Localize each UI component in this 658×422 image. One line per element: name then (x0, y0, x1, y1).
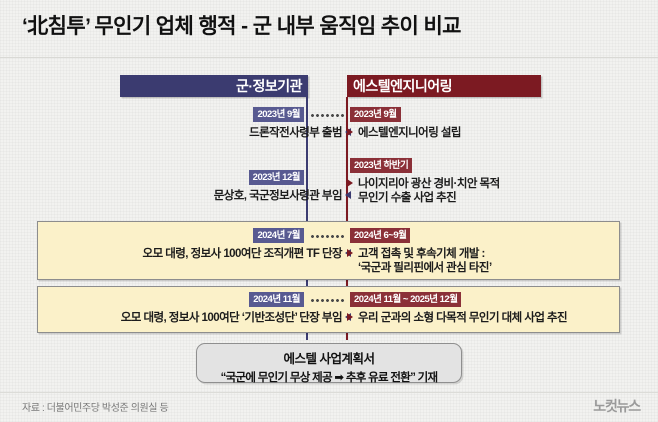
row-text-left: 문상호, 국군정보사령관 부임 (214, 189, 342, 203)
page-title: ‘北침투’ 무인기 업체 행적 - 군 내부 움직임 추이 비교 (22, 10, 461, 40)
nocutnews-logo: 노컷뉴스 (593, 396, 640, 416)
column-header-military: 군·정보기관 (120, 75, 308, 97)
row-date-right: 2024년 11월 ~ 2025년 12월 (350, 292, 461, 307)
row-text-left: 드론작전사령부 출범 (249, 126, 342, 140)
highlight-box-row-4 (37, 286, 620, 333)
source-credit: 자료 : 더불어민주당 박성준 의원실 등 (22, 399, 168, 414)
business-plan-note: 에스텔 사업계획서 “국군에 무인기 무상 제공 ➡ 추후 유료 전환” 기재 (196, 343, 462, 383)
row-date-left: 2024년 7월 (253, 228, 304, 243)
arrow-right-icon (347, 128, 353, 136)
arrow-right-icon (347, 249, 353, 257)
arrow-right-icon (347, 179, 353, 187)
row-connector-dots (310, 114, 344, 117)
row-text-left: 오모 대령, 정보사 100여단 ‘기반조성단’ 단장 부임 (121, 311, 342, 325)
row-date-left: 2024년 11월 (249, 292, 304, 307)
row-date-left: 2023년 12월 (249, 170, 304, 185)
row-date-right: 2023년 9월 (350, 107, 401, 122)
arrow-right-icon (347, 313, 353, 321)
arrow-left-icon (345, 191, 351, 199)
row-text-right: 우리 군과의 소형 다목적 무인기 대체 사업 추진 (358, 311, 567, 325)
row-date-right: 2024년 6~9월 (350, 228, 410, 243)
row-text-right: 나이지리아 광산 경비·치안 목적 무인기 수출 사업 추진 (358, 177, 500, 205)
row-text-right: 에스텔엔지니어링 설립 (358, 126, 461, 140)
footer-divider (0, 392, 658, 393)
title-divider (0, 57, 658, 58)
row-date-left: 2023년 9월 (253, 107, 304, 122)
column-header-estel: 에스텔엔지니어링 (347, 75, 541, 97)
row-date-right: 2023년 하반기 (350, 158, 412, 173)
row-text-left: 오모 대령, 정보사 100여단 조직개편 TF 단장 (143, 247, 342, 261)
row-text-right: 고객 접촉 및 후속기체 개발 : ‘국군과 필리핀에서 관심 타진’ (358, 247, 492, 275)
infographic-canvas: ‘北침투’ 무인기 업체 행적 - 군 내부 움직임 추이 비교 군·정보기관 … (0, 0, 658, 422)
row-connector-dots (310, 235, 344, 238)
row-connector-dots (310, 299, 344, 302)
note-title: 에스텔 사업계획서 (197, 348, 461, 367)
note-subtitle: “국군에 무인기 무상 제공 ➡ 추후 유료 전환” 기재 (197, 369, 461, 385)
